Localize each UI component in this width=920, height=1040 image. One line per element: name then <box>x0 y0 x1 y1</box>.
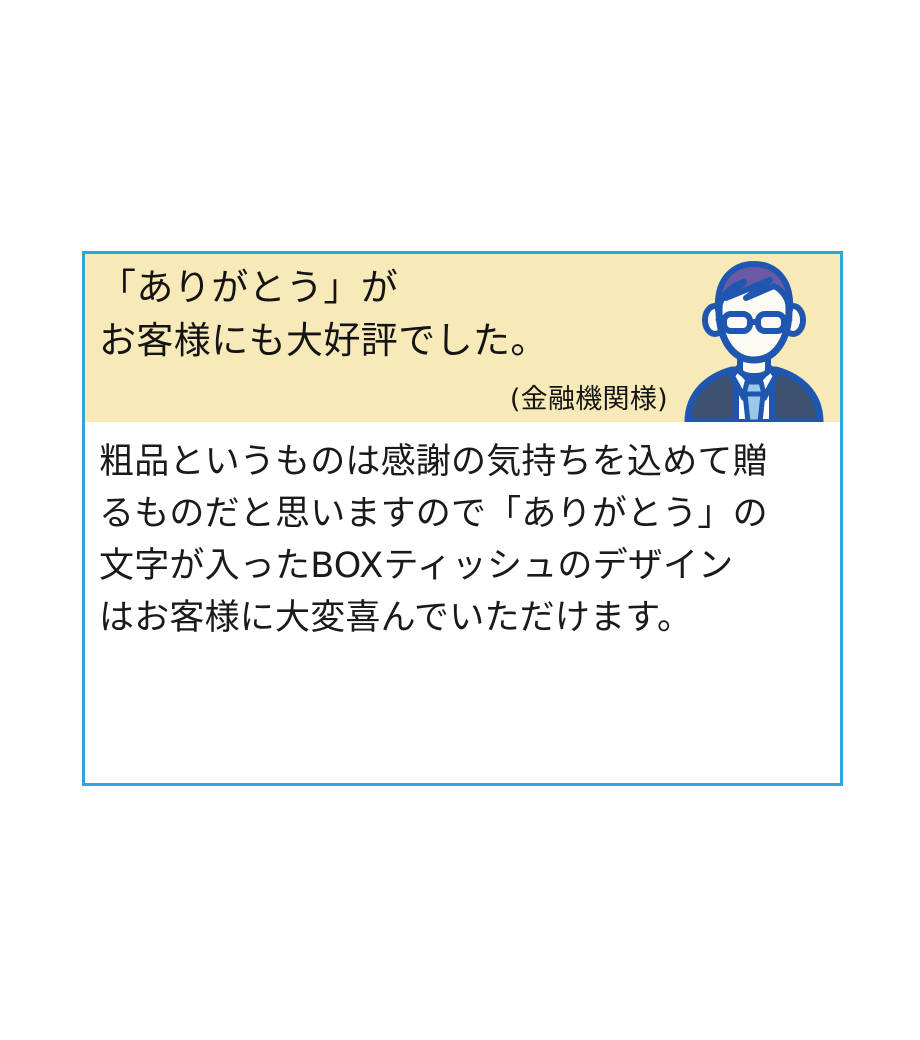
body-line-1: 粗品というものは感謝の気持ちを込めて贈 <box>99 436 824 488</box>
body-line-4: はお客様に大変喜んでいただけます。 <box>99 592 824 644</box>
businessman-avatar-icon <box>674 258 834 422</box>
testimonial-body: 粗品というものは感謝の気持ちを込めて贈 るものだと思いますので「ありがとう」の … <box>85 422 840 645</box>
body-line-3: 文字が入ったBOXティッシュのデザイン <box>99 540 824 592</box>
testimonial-card: 「ありがとう」が お客様にも大好評でした。 (金融機関様) <box>82 251 843 786</box>
testimonial-header: 「ありがとう」が お客様にも大好評でした。 (金融機関様) <box>85 254 840 422</box>
body-line-2: るものだと思いますので「ありがとう」の <box>99 488 824 540</box>
attribution-label: (金融機関様) <box>510 384 668 416</box>
page-canvas: 「ありがとう」が お客様にも大好評でした。 (金融機関様) <box>0 0 920 1040</box>
